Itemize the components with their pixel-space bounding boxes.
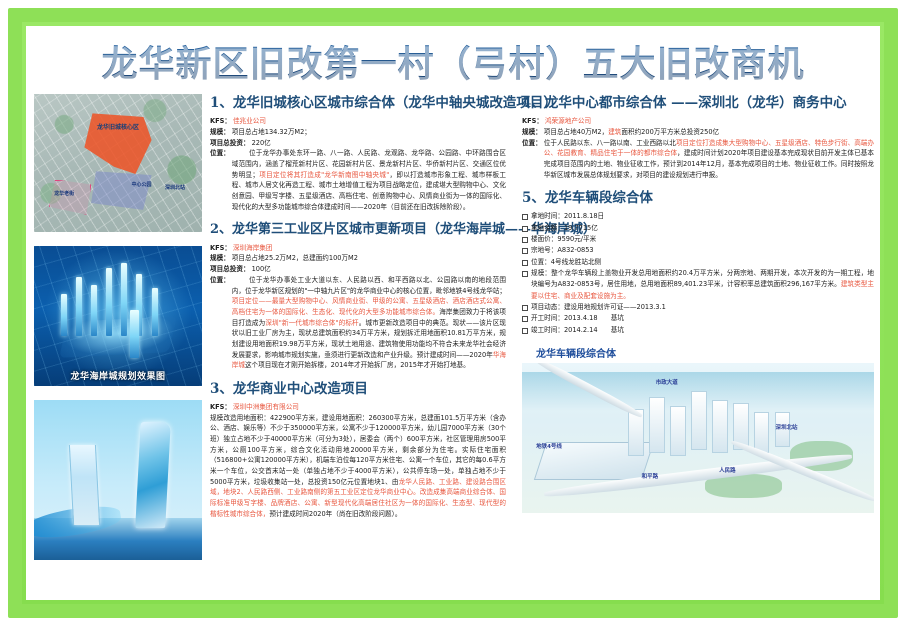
field-value: 深圳海岸集团: [233, 243, 506, 254]
bullet-label: 拿地金额：: [531, 224, 564, 232]
list-item: 位置：4号线龙胜站北侧: [522, 257, 874, 268]
section-4-heading: 4、龙华中心都市综合体 ——深圳北（龙华）商务中心: [522, 94, 874, 112]
field-value: 鸿荣源地产公司: [545, 116, 874, 127]
map-label-north-station: 深圳北站: [165, 185, 185, 191]
page-title: 龙华新区旧改第一村（弓村）五大旧改商机: [101, 35, 804, 87]
map-zone-blue: [91, 171, 151, 210]
section-2: 2、龙华第三工业区片区城市更新项目（龙华海岸城——华海岸城） KFS： 深圳海岸…: [210, 221, 506, 371]
field-label: 项目总投资：: [210, 264, 250, 275]
field-value: 100亿: [252, 264, 506, 275]
list-item: 规模：整个龙华车辆段上盖物业开发总用地面积约20.4万平方米，分两宗地、两期开发…: [522, 268, 874, 302]
section-4-scale: 规模： 项目总占地40万M2，建筑面积约200万平方米总投资250亿: [522, 127, 874, 138]
bullet-label: 拿地时间：: [531, 212, 564, 220]
depot-label-metro-line4: 地铁4号线: [536, 442, 562, 450]
coast-tower: [76, 277, 82, 336]
coast-tower-main: [130, 310, 139, 358]
body-highlight: 项目定位: [232, 297, 259, 305]
coast-grid-overlay: [34, 246, 202, 386]
section-1-body: 位于龙华办事处东环一路、八一路、人民路、龙观路、龙华路、公园路、中环路围合区域范…: [232, 148, 506, 212]
coast-tower: [106, 268, 112, 335]
list-item: 楼面价：9590元/平米: [522, 234, 874, 245]
scale-text: 项目总占地40万M2，: [544, 128, 608, 136]
coast-city-graphic: 龙华海岸城规划效果图: [34, 246, 202, 386]
section-1-heading: 1、龙华旧城核心区城市综合体（龙华中轴央城改造项目）: [210, 94, 506, 112]
field-label: 位置：: [522, 138, 542, 181]
field-value: 项目总占地40万M2，建筑面积约200万平方米总投资250亿: [544, 127, 874, 138]
depot-building: [649, 397, 665, 453]
list-item: 宗地号：A832-0853: [522, 245, 874, 256]
depot-building: [691, 391, 707, 450]
section-1-location: 位置： 位于龙华办事处东环一路、八一路、人民路、龙观路、龙华路、公园路、中环路围…: [210, 148, 506, 212]
map-label-redzone: 龙华旧城核心区: [89, 124, 146, 132]
section-2-investment: 项目总投资： 100亿: [210, 264, 506, 275]
section-5-heading: 5、龙华车辆段综合体: [522, 189, 874, 207]
section-3-kfs: KFS： 深圳中洲集团有限公司: [210, 402, 506, 413]
body-text: 预计建成时间2020年（尚在旧改阶段问题）。: [269, 510, 401, 518]
section-1-kfs: KFS： 佳兆业公司: [210, 116, 506, 127]
poster-inner: 龙华新区旧改第一村（弓村）五大旧改商机 龙华旧城核心区 中心公园 龙华老街 深圳…: [26, 26, 880, 600]
depot-label-renmin-road: 人民路: [719, 466, 736, 474]
field-label: 规模：: [210, 127, 230, 138]
bullet-value: 2014.2.14: [564, 326, 598, 334]
list-item: 项目动态：建设用地规划许可证——2013.3.1: [522, 302, 874, 313]
list-item: 开工时间：2013.4.18 基坑: [522, 313, 874, 324]
body-text: 位于龙华办事处工业大道以东、人民路以西、和平西路以北、公园路以南的地段范围内，位…: [232, 276, 506, 295]
body-highlight: 深圳"新一代城市综合体"的标杆: [265, 319, 358, 327]
bullet-sub: 基坑: [602, 326, 624, 334]
section-4-body: 位于人民路以东、八一路以南、工业西路以北项目定位打造成集大型购物中心、五星级酒店…: [544, 138, 874, 181]
depot-label-north-station: 深圳北站: [775, 423, 797, 431]
bullet-value: 2013.4.18: [564, 314, 598, 322]
bullet-label: 楼面价：: [531, 235, 557, 243]
bullet-value: 整个龙华车辆段上盖物业开发总用地面积约20.4万平方米，分两宗地、两期开发，本次…: [531, 269, 874, 288]
bullet-label: 开工时间：: [531, 314, 564, 322]
coast-tower: [121, 263, 127, 336]
twin-towers-graphic: [34, 400, 202, 560]
field-value: 220亿: [252, 138, 506, 149]
map-zone-pink: [49, 180, 91, 215]
bullet-value: 19.7715亿: [564, 224, 598, 232]
section-2-body: 位于龙华办事处工业大道以东、人民路以西、和平西路以北、公园路以南的地段范围内，位…: [232, 275, 506, 371]
depot-building: [670, 406, 686, 456]
coast-tower: [152, 288, 158, 336]
depot-building: [712, 400, 728, 453]
body-highlight: 将其打造成"龙华新南图中轴央城": [287, 171, 390, 179]
field-label: 位置：: [210, 148, 230, 212]
coast-tower: [91, 285, 97, 335]
body-text: 这个项目现在才刚开始拆楼，2014年才开始拆厂房，2015年才开始打地基。: [245, 361, 470, 369]
list-item: 竣工时间：2014.2.14 基坑: [522, 325, 874, 336]
tower-left: [69, 445, 100, 525]
body-text: 规模改造用地面积：422900平方米，建设用地面积：260300平方米，总建面1…: [210, 414, 506, 486]
section-5-bullets: 拿地时间：2011.8.18日 拿地金额：19.7715亿 楼面价：9590元/…: [522, 211, 874, 336]
bullet-value: 2011.8.18日: [564, 212, 604, 220]
satellite-map-image: 龙华旧城核心区 中心公园 龙华老街 深圳北站: [34, 94, 202, 232]
satellite-map-graphic: 龙华旧城核心区 中心公园 龙华老街 深圳北站: [34, 94, 202, 232]
depot-building: [754, 412, 768, 453]
coast-city-caption: 龙华海岸城规划效果图: [34, 369, 202, 382]
field-label: KFS：: [210, 402, 231, 413]
tower-right: [135, 422, 171, 528]
coast-tower: [61, 294, 67, 336]
section-1-scale: 规模： 项目总占地134.32万M2；: [210, 127, 506, 138]
bullet-label: 项目动态：: [531, 303, 564, 311]
poster-root: 龙华新区旧改第一村（弓村）五大旧改商机 龙华旧城核心区 中心公园 龙华老街 深圳…: [0, 0, 906, 626]
field-label: 规模：: [522, 127, 542, 138]
section-2-heading: 2、龙华第三工业区片区城市更新项目（龙华海岸城——华海岸城）: [210, 221, 506, 239]
bullet-value: 9590元/平米: [557, 235, 596, 243]
field-label: 规模：: [210, 253, 230, 264]
field-label: 项目总投资：: [210, 138, 250, 149]
section-2-kfs: KFS： 深圳海岸集团: [210, 243, 506, 254]
field-label: KFS：: [522, 116, 543, 127]
section-3: 3、龙华商业中心改造项目 KFS： 深圳中洲集团有限公司 规模改造用地面积：42…: [210, 380, 506, 520]
vehicle-depot-image: 市政大道 深圳北站 和平路 人民路 地铁4号线: [522, 363, 874, 513]
image-column: 龙华旧城核心区 中心公园 龙华老街 深圳北站: [32, 94, 202, 600]
vehicle-depot-graphic: 市政大道 深圳北站 和平路 人民路 地铁4号线: [522, 363, 874, 513]
content-columns: 龙华旧城核心区 中心公园 龙华老街 深圳北站: [26, 90, 880, 600]
depot-label-main-road: 市政大道: [656, 378, 678, 386]
bullet-label: 位置：: [531, 258, 551, 266]
section-5: 5、龙华车辆段综合体 拿地时间：2011.8.18日 拿地金额：19.7715亿…: [522, 189, 874, 336]
bullet-label: 竣工时间：: [531, 326, 564, 334]
section-3-body: 规模改造用地面积：422900平方米，建设用地面积：260300平方米，总建面1…: [210, 413, 506, 520]
field-value: 深圳中洲集团有限公司: [233, 402, 506, 413]
list-item: 拿地金额：19.7715亿: [522, 223, 874, 234]
depot-image-caption: 龙华车辆段综合体: [536, 345, 874, 360]
title-bar: 龙华新区旧改第一村（弓村）五大旧改商机: [26, 26, 880, 90]
field-label: KFS：: [210, 116, 231, 127]
bullet-sub: 基坑: [602, 314, 624, 322]
bullet-value: A832-0853: [557, 246, 593, 254]
scale-rest: 面积约200万平方米总投资250亿: [621, 128, 719, 136]
left-text-column: 1、龙华旧城核心区城市综合体（龙华中轴央城改造项目） KFS： 佳兆业公司 规模…: [202, 94, 516, 600]
section-4: 4、龙华中心都市综合体 ——深圳北（龙华）商务中心 KFS： 鸿荣源地产公司 规…: [522, 94, 874, 180]
section-2-scale: 规模： 项目总占地25.2万M2，总建面约100万M2: [210, 253, 506, 264]
right-text-column: 4、龙华中心都市综合体 ——深圳北（龙华）商务中心 KFS： 鸿荣源地产公司 规…: [516, 94, 874, 600]
field-value: 项目总占地25.2万M2，总建面约100万M2: [232, 253, 506, 264]
twin-towers-image: [34, 400, 202, 560]
section-4-kfs: KFS： 鸿荣源地产公司: [522, 116, 874, 127]
body-highlight: 项目定位: [259, 171, 287, 179]
section-1-investment: 项目总投资： 220亿: [210, 138, 506, 149]
map-label-old-street: 龙华老街: [54, 191, 74, 197]
bullet-label: 规模：: [531, 269, 551, 277]
map-label-center-park: 中心公园: [131, 182, 151, 188]
bullet-label: 宗地号：: [531, 246, 557, 254]
section-1: 1、龙华旧城核心区城市综合体（龙华中轴央城改造项目） KFS： 佳兆业公司 规模…: [210, 94, 506, 212]
scale-highlight: 建筑: [608, 128, 621, 136]
field-value: 项目总占地134.32万M2；: [232, 127, 506, 138]
section-2-location: 位置： 位于龙华办事处工业大道以东、人民路以西、和平西路以北、公园路以南的地段范…: [210, 275, 506, 371]
section-4-location: 位置： 位于人民路以东、八一路以南、工业西路以北项目定位打造成集大型购物中心、五…: [522, 138, 874, 181]
section-3-heading: 3、龙华商业中心改造项目: [210, 380, 506, 398]
bullet-value: 建设用地规划许可证——2013.3.1: [564, 303, 666, 311]
list-item: 拿地时间：2011.8.18日: [522, 211, 874, 222]
field-label: 位置：: [210, 275, 230, 371]
body-text: 位于人民路以东、八一路以南、工业西路以北: [544, 139, 676, 147]
field-label: KFS：: [210, 243, 231, 254]
coast-city-image: 龙华海岸城规划效果图: [34, 246, 202, 386]
bullet-value: 4号线龙胜站北侧: [551, 258, 601, 266]
field-value: 佳兆业公司: [233, 116, 506, 127]
depot-label-heping-road: 和平路: [642, 472, 659, 480]
